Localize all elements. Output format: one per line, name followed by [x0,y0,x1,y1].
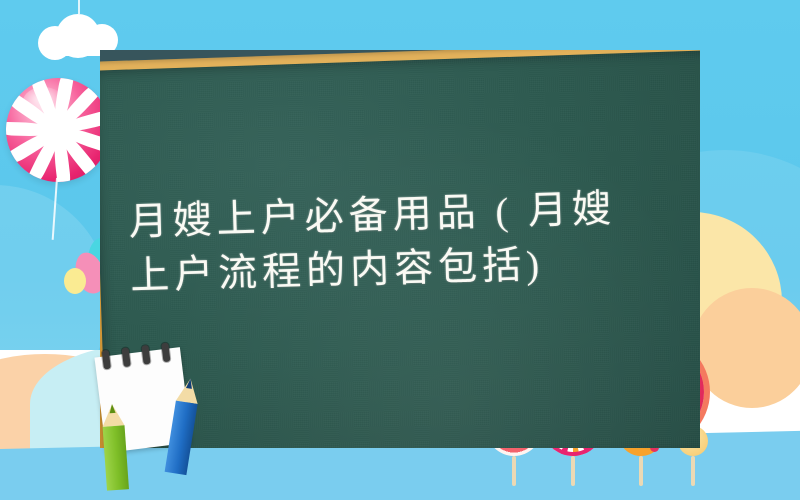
mini-candy-yellow-icon [64,268,86,294]
swirl-lollipop-balloon-icon [6,78,110,182]
chalkboard-headline: 月嫂上户必备用品 ( 月嫂上户流程的内容包括) [128,180,691,304]
headline-line-1: 月嫂上户必备用品 ( 月嫂 [128,187,617,244]
banner-stage: 月嫂上户必备用品 ( 月嫂上户流程的内容包括) [0,0,800,500]
peach-circle-decor [692,288,800,408]
headline-line-2: 上户流程的内容包括) [130,243,545,298]
cloud-string [78,0,80,14]
